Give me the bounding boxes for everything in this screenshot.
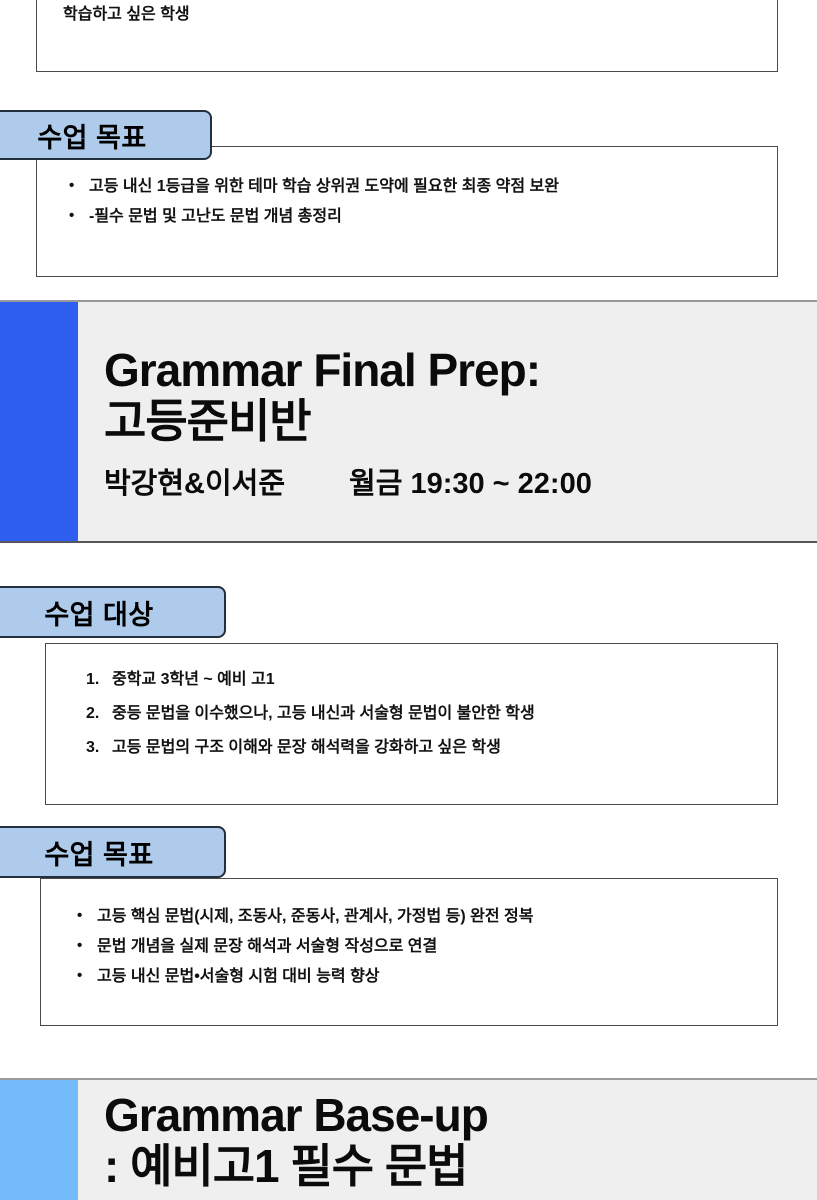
goals-first-list: 고등 내신 1등급을 위한 테마 학습 상위권 도약에 필요한 최종 약점 보완… [63,175,751,230]
goals-second-list: 고등 핵심 문법(시제, 조동사, 준동사, 관계사, 가정법 등) 완전 정복… [71,905,751,989]
banner-primary-teacher: 박강현&이서준 [104,460,285,502]
goals-first-box: 고등 내신 1등급을 위한 테마 학습 상위권 도약에 필요한 최종 약점 보완… [36,146,778,277]
goals-second-box: 고등 핵심 문법(시제, 조동사, 준동사, 관계사, 가정법 등) 완전 정복… [40,878,778,1026]
banner-accent-bar-secondary [0,1080,78,1200]
banner-primary-title-line1: Grammar Final Prep: [104,345,801,396]
audience-continued-line: 학습하고 싶은 학생 [63,3,751,28]
banner-secondary-title-line1: Grammar Base-up [104,1090,801,1141]
audience-box-continued: 학습하고 싶은 학생 [36,0,778,72]
banner-accent-bar-primary [0,302,78,541]
list-item: 고등 문법의 구조 이해와 문장 해석력을 강화하고 싶은 학생 [84,736,751,761]
tab-goals-first: 수업 목표 [0,110,212,160]
tab-goals-second: 수업 목표 [0,826,226,878]
list-item: 고등 내신 문법•서술형 시험 대비 능력 향상 [71,965,751,990]
tab-goals-first-label: 수업 목표 [37,116,146,155]
list-item: 고등 핵심 문법(시제, 조동사, 준동사, 관계사, 가정법 등) 완전 정복 [71,905,751,930]
course-banner-secondary: Grammar Base-up : 예비고1 필수 문법 [0,1078,817,1200]
list-item: 중등 문법을 이수했으나, 고등 내신과 서술형 문법이 불안한 학생 [84,702,751,727]
tab-audience-label: 수업 대상 [44,593,153,632]
audience-box: 중학교 3학년 ~ 예비 고1 중등 문법을 이수했으나, 고등 내신과 서술형… [45,643,778,805]
list-item: 중학교 3학년 ~ 예비 고1 [84,668,751,693]
banner-primary-title-line2: 고등준비반 [104,396,801,447]
tab-audience: 수업 대상 [0,586,226,638]
list-item: 고등 내신 1등급을 위한 테마 학습 상위권 도약에 필요한 최종 약점 보완 [63,175,751,200]
banner-primary-schedule: 월금 19:30 ~ 22:00 [349,460,592,502]
course-banner-primary: Grammar Final Prep: 고등준비반 박강현&이서준 월금 19:… [0,300,817,543]
list-item: 문법 개념을 실제 문장 해석과 서술형 작성으로 연결 [71,935,751,960]
banner-secondary-title-line2: : 예비고1 필수 문법 [104,1141,801,1192]
list-item: -필수 문법 및 고난도 문법 개념 총정리 [63,205,751,230]
course-outline-page: 학습하고 싶은 학생 수업 목표 고등 내신 1등급을 위한 테마 학습 상위권… [0,0,817,1200]
tab-goals-second-label: 수업 목표 [44,833,153,872]
audience-list: 중학교 3학년 ~ 예비 고1 중등 문법을 이수했으나, 고등 내신과 서술형… [84,668,751,760]
